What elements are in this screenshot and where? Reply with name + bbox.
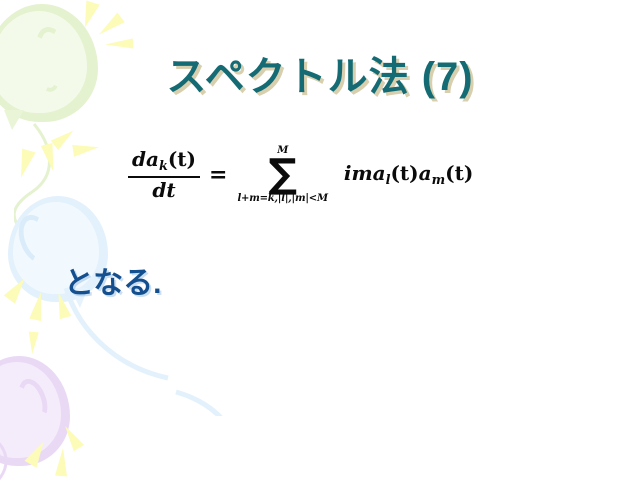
rhs-term2-argument: (t): [445, 161, 473, 185]
sparkle-ray: [29, 291, 47, 321]
sparkle-ray: [55, 448, 69, 477]
green-balloon-knot: [4, 110, 24, 130]
sparkle-ray: [14, 149, 35, 180]
sparkle-ray: [4, 274, 31, 303]
slide-canvas: スペクトル法 (7) dak(t) dt = M ∑ l+m=k,|l|,|m|…: [0, 0, 640, 480]
rhs-term1-a: a: [373, 161, 386, 185]
sparkle-ray: [60, 423, 84, 451]
sparkle-ray: [27, 332, 39, 355]
fraction-denominator: dt: [148, 178, 179, 201]
fraction-numerator: dak(t): [128, 148, 200, 175]
purple-balloon-knot: [0, 454, 1, 472]
summation: M ∑ l+m=k,|l|,|m|<M: [237, 146, 327, 204]
purple-balloon-fill: [0, 362, 61, 458]
purple-balloon-string: [0, 434, 36, 480]
sum-lower-limit: l+m=k,|l|,|m|<M: [237, 194, 327, 204]
sparkle-ray: [78, 0, 99, 29]
purple-balloon-outline: [0, 356, 70, 466]
purple-balloon-highlight: [13, 375, 52, 425]
rhs-term2-a: a: [419, 161, 432, 185]
sparkle-ray: [72, 141, 99, 157]
equation-block: dak(t) dt = M ∑ l+m=k,|l|,|m|<M imal(t)a…: [128, 146, 473, 204]
purple-balloon: [0, 356, 78, 472]
rhs-term1-argument: (t): [390, 161, 418, 185]
equation-right-side: imal(t)am(t): [344, 161, 473, 188]
slide-title: スペクトル法 (7): [0, 44, 640, 102]
numerator-d: d: [132, 147, 146, 171]
numerator-subscript: k: [159, 160, 168, 175]
sparkle-ray: [95, 13, 124, 40]
sigma-icon: ∑: [268, 156, 297, 193]
numerator-argument: (t): [168, 147, 196, 171]
sparkle-ray: [24, 438, 49, 468]
sparkle-ray: [51, 126, 77, 150]
body-text: となる.: [64, 258, 161, 302]
sparkle-ray: [41, 143, 59, 173]
rhs-coefficient: im: [344, 161, 373, 185]
equals-sign: =: [209, 162, 227, 188]
rhs-term2-subscript: m: [432, 173, 446, 188]
blue-balloon-string: [58, 286, 248, 416]
derivative-fraction: dak(t) dt: [128, 148, 200, 201]
green-balloon-string: [14, 122, 74, 232]
numerator-a: a: [146, 147, 159, 171]
blue-balloon-highlight: [12, 210, 59, 268]
